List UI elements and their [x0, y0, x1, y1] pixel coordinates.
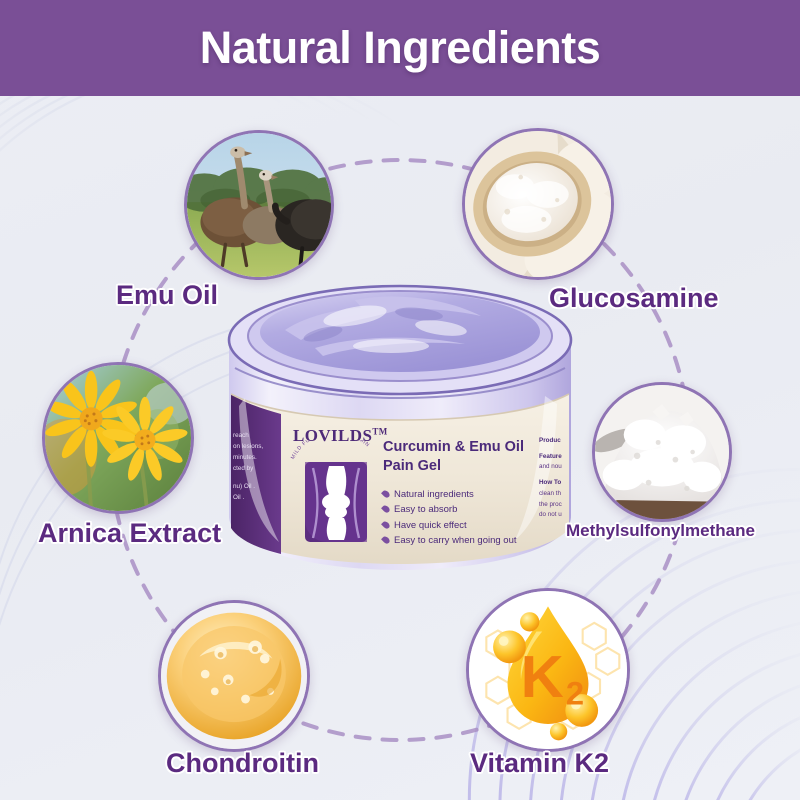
ingredient-label-glucosamine: Glucosamine: [549, 283, 719, 314]
benefit-item: Easy to carry when going out: [383, 533, 563, 548]
benefit-label: Easy to absorb: [394, 504, 457, 515]
product-name-line-2: Pain Gel: [383, 457, 543, 476]
left-text-line-2: on lesions,: [233, 441, 281, 452]
ingredient-circle-emu-oil[interactable]: [184, 130, 334, 280]
ingredient-circle-chondroitin[interactable]: [158, 600, 310, 752]
infographic-page: Natural Ingredients: [0, 0, 800, 800]
ingredient-label-chondroitin: Chondroitin: [166, 748, 319, 779]
knee-joint-icon: [305, 462, 367, 542]
left-text-line-3: minutes.: [233, 452, 281, 463]
ingredient-circle-vitamin-k2[interactable]: K 2: [466, 588, 630, 752]
k2-golden-droplet-hexagon-graphic: K 2: [469, 591, 627, 749]
product-name: Curcumin & Emu Oil Pain Gel: [383, 438, 543, 476]
svg-text:2: 2: [566, 675, 584, 712]
ingredient-circle-glucosamine[interactable]: [462, 128, 614, 280]
right-body-features: and nou: [539, 462, 573, 473]
ingredient-label-emu-oil: Emu Oil: [116, 280, 218, 311]
benefit-label: Have quick effect: [394, 520, 467, 531]
ingredient-label-arnica-extract: Arnica Extract: [38, 518, 221, 549]
yellow-arnica-flowers-photo: [45, 365, 191, 511]
header-banner: Natural Ingredients: [0, 0, 800, 96]
right-heading-features: Feature: [539, 453, 562, 460]
product-name-line-1: Curcumin & Emu Oil: [383, 438, 543, 457]
jar-right-panel-text: Produc Feature and nou How To clean th t…: [539, 436, 573, 521]
jar-left-panel-text: reach on lesions, minutes. cted by nu) O…: [233, 430, 281, 503]
benefit-item: Have quick effect: [383, 518, 563, 533]
right-heading-how-to: How To: [539, 479, 561, 486]
svg-text:MILD FORMULA · CURCUMIN: MILD FORMULA · CURCUMIN: [290, 440, 371, 460]
droplet-bullet-icon: [381, 504, 391, 514]
ingredient-circle-methylsulfonylmethane[interactable]: [592, 382, 732, 522]
emus-in-grass-field-photo: [187, 133, 331, 277]
droplet-bullet-icon: [381, 535, 391, 545]
left-text-line-1: reach: [233, 430, 281, 441]
page-title: Natural Ingredients: [200, 22, 601, 74]
white-crystalline-powder-with-spoon-photo: [595, 385, 729, 519]
left-text-line-5: nu) Oil .: [233, 481, 281, 492]
product-benefits-list: Natural ingredients Easy to absorb Have …: [383, 487, 563, 549]
droplet-bullet-icon: [381, 489, 391, 499]
benefit-label: Natural ingredients: [394, 489, 474, 500]
droplet-bullet-icon: [381, 520, 391, 530]
white-powder-in-wooden-bowl-photo: [465, 131, 611, 277]
trademark-symbol: TM: [372, 426, 387, 436]
right-heading-product: Produc: [539, 437, 561, 444]
ingredient-label-vitamin-k2: Vitamin K2: [470, 748, 609, 779]
benefit-label: Easy to carry when going out: [394, 535, 517, 546]
left-text-line-4: cted by: [233, 463, 281, 474]
benefit-item: Natural ingredients: [383, 487, 563, 502]
product-jar[interactable]: reach on lesions, minutes. cted by nu) O…: [205, 278, 595, 580]
right-body-how-to: clean th the proc do not u: [539, 489, 573, 521]
golden-gel-droplet-photo: [161, 603, 307, 749]
ingredient-label-methylsulfonylmethane: Methylsulfonylmethane: [566, 521, 755, 541]
svg-text:K: K: [521, 643, 564, 710]
benefit-item: Easy to absorb: [383, 502, 563, 517]
left-text-line-6: Oil .: [233, 492, 281, 503]
ingredient-circle-arnica-extract[interactable]: [42, 362, 194, 514]
curved-tagline-mild-formula: MILD FORMULA · CURCUMIN: [287, 440, 383, 474]
